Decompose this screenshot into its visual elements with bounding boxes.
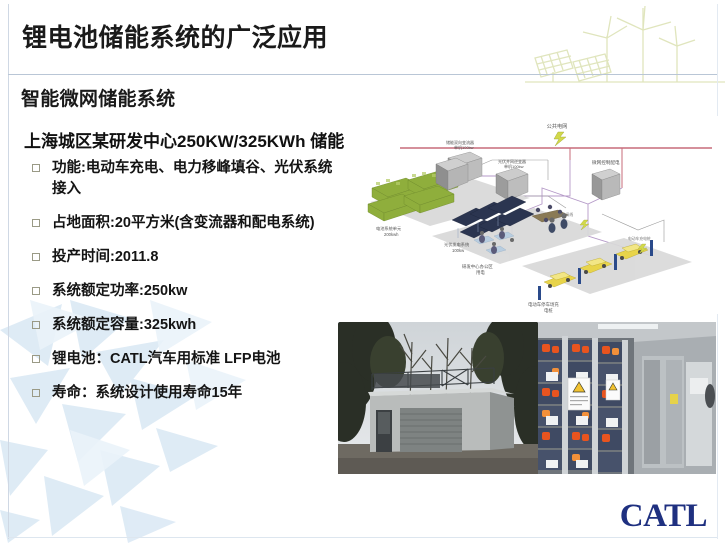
bullet-square-icon bbox=[32, 287, 40, 295]
svg-text:单机100kw: 单机100kw bbox=[454, 144, 474, 150]
svg-text:200kwh: 200kwh bbox=[384, 232, 399, 237]
bullet-square-icon bbox=[32, 253, 40, 261]
bullet-square-icon bbox=[32, 389, 40, 397]
list-item: 系统额定容量:325kwh bbox=[30, 315, 340, 336]
diagram-label-battery-unit: 电池系统单元 bbox=[376, 225, 401, 232]
list-item-text: 系统额定功率:250kw bbox=[52, 283, 187, 299]
eco-decoration-icon bbox=[525, 0, 725, 92]
list-item: 占地面积:20平方米(含变流器和配电系统) bbox=[30, 213, 340, 234]
diagram-label-grid: 公共电网 bbox=[547, 122, 568, 130]
list-item-text: 投产时间:2011.8 bbox=[52, 249, 158, 265]
spec-bullet-list: 功能:电动车充电、电力移峰填谷、光伏系统接入 占地面积:20平方米(含变流器和配… bbox=[30, 158, 340, 417]
svg-text:电桩: 电桩 bbox=[544, 307, 553, 314]
footer-divider bbox=[8, 537, 717, 538]
list-item: 锂电池：CATL汽车用标准 LFP电池 bbox=[30, 349, 340, 370]
photo-battery-room bbox=[538, 322, 716, 474]
list-item: 功能:电动车充电、电力移峰填谷、光伏系统接入 bbox=[30, 158, 340, 200]
diagram-label-office: 研发中心办公区 bbox=[462, 263, 493, 270]
list-item: 系统额定功率:250kw bbox=[30, 281, 340, 302]
section-title: 智能微网储能系统 bbox=[21, 84, 175, 111]
svg-text:100kw: 100kw bbox=[452, 248, 465, 253]
bullet-square-icon bbox=[32, 321, 40, 329]
page-title: 锂电池储能系统的广泛应用 bbox=[22, 18, 328, 54]
diagram-label-charge-pile: 电动车充电桩 bbox=[628, 236, 651, 241]
diagram-label-charging: 电动车停车场充 bbox=[528, 301, 559, 308]
photo-container bbox=[338, 322, 538, 474]
diagram-label-ac-bus: 交流母线 bbox=[558, 212, 573, 217]
list-item-text: 系统额定容量:325kwh bbox=[52, 317, 196, 333]
slide-root: 锂电池储能系统的广泛应用 智能微网储能系统 上海城区某研发中心250KW/325… bbox=[0, 0, 725, 543]
grid-control-cabinet bbox=[592, 169, 620, 200]
frame-line-left bbox=[8, 4, 9, 539]
lightning-icon bbox=[554, 132, 566, 146]
list-item: 寿命：系统设计使用寿命15年 bbox=[30, 383, 340, 404]
bullet-square-icon bbox=[32, 164, 40, 172]
svg-text:单机100kw: 单机100kw bbox=[504, 163, 524, 169]
list-item-text: 寿命：系统设计使用寿命15年 bbox=[52, 385, 242, 401]
bullet-square-icon bbox=[32, 355, 40, 363]
microgrid-system-schematic: 公共电网 bbox=[352, 116, 718, 314]
catl-logo: CATL bbox=[620, 498, 707, 535]
bullet-square-icon bbox=[32, 219, 40, 227]
pcs-cabinet-2 bbox=[496, 168, 528, 200]
list-item-text: 占地面积:20平方米(含变流器和配电系统) bbox=[52, 215, 315, 231]
svg-text:用电: 用电 bbox=[476, 269, 485, 276]
title-divider bbox=[8, 74, 717, 75]
list-item-text: 功能:电动车充电、电力移峰填谷、光伏系统接入 bbox=[52, 160, 332, 197]
list-item: 投产时间:2011.8 bbox=[30, 247, 340, 268]
spec-heading: 上海城区某研发中心250KW/325KWh 储能 bbox=[24, 127, 344, 152]
photo-row bbox=[338, 322, 716, 474]
diagram-label-grid-controller: 微网控制配电 bbox=[592, 159, 620, 166]
diagram-label-pv: 光伏发电系统 bbox=[444, 241, 469, 248]
list-item-text: 锂电池：CATL汽车用标准 LFP电池 bbox=[52, 351, 281, 367]
